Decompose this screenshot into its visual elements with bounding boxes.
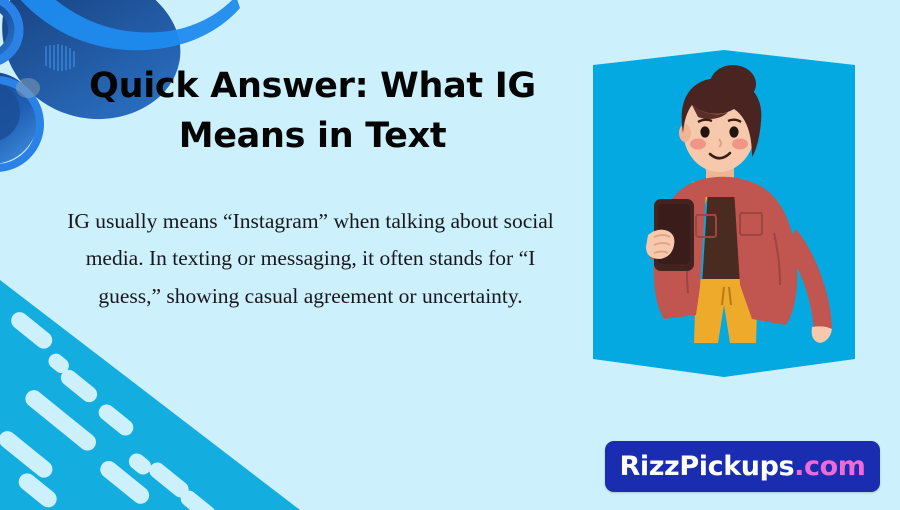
- eye-right: [729, 126, 738, 137]
- decorative-circle-lower-inner: [0, 82, 20, 142]
- decorative-arc-top: [14, 0, 240, 50]
- brand-name: RizzPickups: [619, 451, 794, 482]
- infographic-canvas: Quick Answer: What IG Means in Text IG u…: [0, 0, 900, 510]
- decorative-ring-lower: [0, 80, 40, 168]
- decorative-ring-upper: [0, 0, 20, 64]
- decorative-accent-dot: [16, 78, 40, 98]
- brand-tld: .com: [794, 451, 865, 482]
- illustration-woman-with-phone: [588, 47, 860, 382]
- blush-right: [732, 139, 748, 150]
- ear: [679, 124, 691, 142]
- page-title: Quick Answer: What IG Means in Text: [60, 62, 565, 161]
- body-paragraph: IG usually means “Instagram” when talkin…: [58, 203, 563, 315]
- decorative-pills: [0, 309, 219, 510]
- eye-left: [700, 126, 709, 137]
- decorative-ring-upper-outline: [0, 0, 19, 63]
- brand-badge[interactable]: RizzPickups.com: [605, 441, 880, 492]
- jacket-shoulders: [692, 177, 748, 197]
- decorative-circle-lower: [0, 72, 38, 164]
- blush-left: [690, 139, 706, 150]
